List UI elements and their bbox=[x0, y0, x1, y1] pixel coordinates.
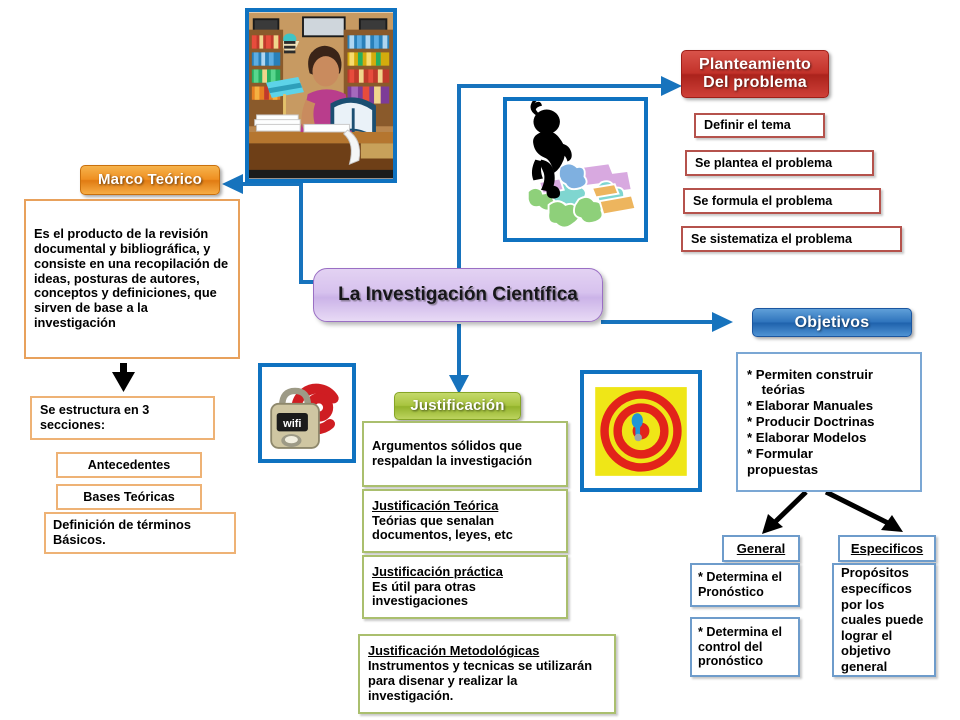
marco-seccion-definicion-terminos: Definición de términos Básicos. bbox=[44, 512, 236, 554]
objetivos-bullet-4: * Elaborar Modelos bbox=[747, 430, 911, 446]
arrow-marco-to-estructura bbox=[112, 363, 135, 392]
planteamiento-step-se-plantea-label: Se plantea el problema bbox=[695, 156, 864, 171]
connector-center-to-objetivos bbox=[601, 320, 718, 324]
marco-teorico-header-label: Marco Teórico bbox=[98, 172, 202, 189]
marco-teorico-structure: Se estructura en 3 secciones: bbox=[30, 396, 215, 440]
connector-center-to-marco-vert bbox=[299, 186, 303, 284]
justificacion-item-1-text: Teórias que senalan documentos, leyes, e… bbox=[372, 514, 558, 544]
mindmap-canvas: wifi La Investigación Científica bbox=[0, 0, 960, 720]
image-library-research bbox=[245, 8, 397, 183]
planteamiento-step-se-sistematiza: Se sistematiza el problema bbox=[681, 226, 902, 252]
center-node-label: La Investigación Científica bbox=[338, 284, 578, 306]
planteamiento-step-se-formula-label: Se formula el problema bbox=[693, 194, 871, 209]
planteamiento-step-definir-tema-label: Definir el tema bbox=[704, 118, 815, 133]
planteamiento-step-se-sistematiza-label: Se sistematiza el problema bbox=[691, 232, 892, 247]
planteamiento-step-se-plantea: Se plantea el problema bbox=[685, 150, 874, 176]
justificacion-item-3: Justificación Metodológicas Instrumentos… bbox=[358, 634, 616, 714]
marco-teorico-body: Es el producto de la revisión documental… bbox=[24, 199, 240, 359]
marco-seccion-bases-teoricas-label: Bases Teóricas bbox=[64, 490, 194, 505]
objetivos-especificos-body: Propósitos específicos por los cuales pu… bbox=[832, 563, 936, 677]
planteamiento-step-se-formula: Se formula el problema bbox=[683, 188, 881, 214]
planteamiento-step-definir-tema: Definir el tema bbox=[694, 113, 825, 138]
dartboard-target-clipart bbox=[584, 374, 698, 488]
justificacion-item-2-text: Es útil para otras investigaciones bbox=[372, 580, 558, 610]
objetivos-general-item-1: * Determina el control del pronóstico bbox=[690, 617, 800, 677]
marco-seccion-definicion-terminos-label: Definición de términos Básicos. bbox=[53, 518, 227, 548]
objetivos-bullet-3: * Producir Doctrinas bbox=[747, 414, 911, 430]
planteamiento-header[interactable]: Planteamiento Del problema bbox=[681, 50, 829, 98]
connector-center-to-planteamiento-horiz bbox=[457, 84, 665, 88]
objetivos-bullet-1: teórias bbox=[747, 382, 911, 398]
justificacion-item-0-text: Argumentos sólidos que respaldan la inve… bbox=[372, 439, 558, 469]
connector-center-to-planteamiento-vert bbox=[457, 84, 461, 274]
justificacion-header-label: Justificación bbox=[410, 398, 504, 415]
planteamiento-header-line1: Planteamiento bbox=[699, 56, 811, 74]
marco-seccion-antecedentes-label: Antecedentes bbox=[64, 458, 194, 473]
planteamiento-header-line2: Del problema bbox=[703, 74, 807, 92]
objetivos-general-title: General bbox=[722, 535, 800, 562]
arrow-objetivos-to-general bbox=[762, 492, 806, 534]
objetivos-bullet-0: * Permiten construir bbox=[747, 367, 911, 383]
connector-center-to-justificacion bbox=[457, 324, 461, 382]
marco-seccion-antecedentes: Antecedentes bbox=[56, 452, 202, 478]
marco-seccion-bases-teoricas: Bases Teóricas bbox=[56, 484, 202, 510]
objetivos-especificos-title-label: Especificos bbox=[844, 541, 930, 556]
justificacion-item-3-text: Instrumentos y tecnicas se utilizarán pa… bbox=[368, 659, 606, 704]
objetivos-bullet-6: propuestas bbox=[747, 462, 911, 478]
justificacion-item-0: Argumentos sólidos que respaldan la inve… bbox=[362, 421, 568, 487]
image-target bbox=[580, 370, 702, 492]
objetivos-header[interactable]: Objetivos bbox=[752, 308, 912, 337]
at-symbol-padlock-clipart: wifi bbox=[262, 367, 352, 459]
objetivos-especificos-body-text: Propósitos específicos por los cuales pu… bbox=[841, 565, 927, 674]
justificacion-item-1-title: Justificación Teórica bbox=[372, 499, 558, 514]
objetivos-especificos-title: Especificos bbox=[838, 535, 936, 562]
marco-teorico-header[interactable]: Marco Teórico bbox=[80, 165, 220, 195]
objetivos-general-item-0-label: * Determina el Pronóstico bbox=[698, 570, 792, 599]
image-puzzle-problem bbox=[503, 97, 648, 242]
justificacion-item-1: Justificación Teórica Teórias que senala… bbox=[362, 489, 568, 553]
image-at-lock: wifi bbox=[258, 363, 356, 463]
objetivos-general-item-0: * Determina el Pronóstico bbox=[690, 563, 800, 607]
justificacion-item-3-title: Justificación Metodológicas bbox=[368, 644, 606, 659]
person-on-puzzle-clipart bbox=[507, 101, 644, 238]
marco-teorico-structure-text: Se estructura en 3 secciones: bbox=[40, 403, 205, 432]
center-node[interactable]: La Investigación Científica bbox=[313, 268, 603, 322]
library-research-clipart bbox=[249, 12, 393, 179]
objetivos-general-item-1-label: * Determina el control del pronóstico bbox=[698, 625, 792, 669]
objetivos-bullet-2: * Elaborar Manuales bbox=[747, 398, 911, 414]
marco-teorico-body-text: Es el producto de la revisión documental… bbox=[34, 227, 230, 331]
justificacion-item-2-title: Justificación práctica bbox=[372, 565, 558, 580]
objetivos-bullet-5: * Formular bbox=[747, 446, 911, 462]
wifi-label: wifi bbox=[282, 418, 301, 430]
objetivos-header-label: Objetivos bbox=[795, 314, 870, 332]
arrow-objetivos-to-especificos bbox=[826, 492, 903, 532]
objetivos-general-title-label: General bbox=[728, 541, 794, 556]
objetivos-bullets: * Permiten construir teórias * Elaborar … bbox=[736, 352, 922, 492]
justificacion-item-2: Justificación práctica Es útil para otra… bbox=[362, 555, 568, 619]
justificacion-header[interactable]: Justificación bbox=[394, 392, 521, 420]
